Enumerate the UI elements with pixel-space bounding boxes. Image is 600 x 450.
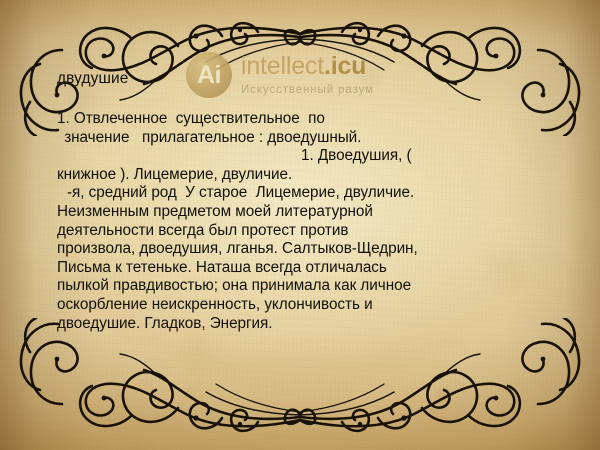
article-line: Письма к тетеньке. Наташа всегда отличал… [57,259,537,278]
article-line: двоедушие. Гладков, Энергия. [57,315,537,334]
page-title: двудушие [57,70,128,88]
article-line: 1. Отвлеченное существительное по [57,110,537,129]
article-line: -я, средний род У старое Лицемерие, двул… [57,184,537,203]
article-line: книжное ). Лицемерие, двуличие. [57,166,537,185]
dictionary-slide: Ai intellect.icu Искусственный разум дву… [0,0,600,450]
slide-content: двудушие 1. Отвлеченное существительное … [0,0,600,450]
article-line: Неизменным предметом моей литературной [57,203,537,222]
article-line: произвола, двоедушия, лганья. Салтыков-Щ… [57,240,537,259]
article-line: значение прилагательное : двоедушный. [57,129,537,148]
article-line: пылкой правдивостью; она принимала как л… [57,277,537,296]
article-line: оскорбление неискренность, уклончивость … [57,296,537,315]
article-line: 1. Двоедушия, ( [57,147,537,166]
article-line: деятельности всегда был протест против [57,222,537,241]
dictionary-article: 1. Отвлеченное существительное по значен… [57,110,537,333]
